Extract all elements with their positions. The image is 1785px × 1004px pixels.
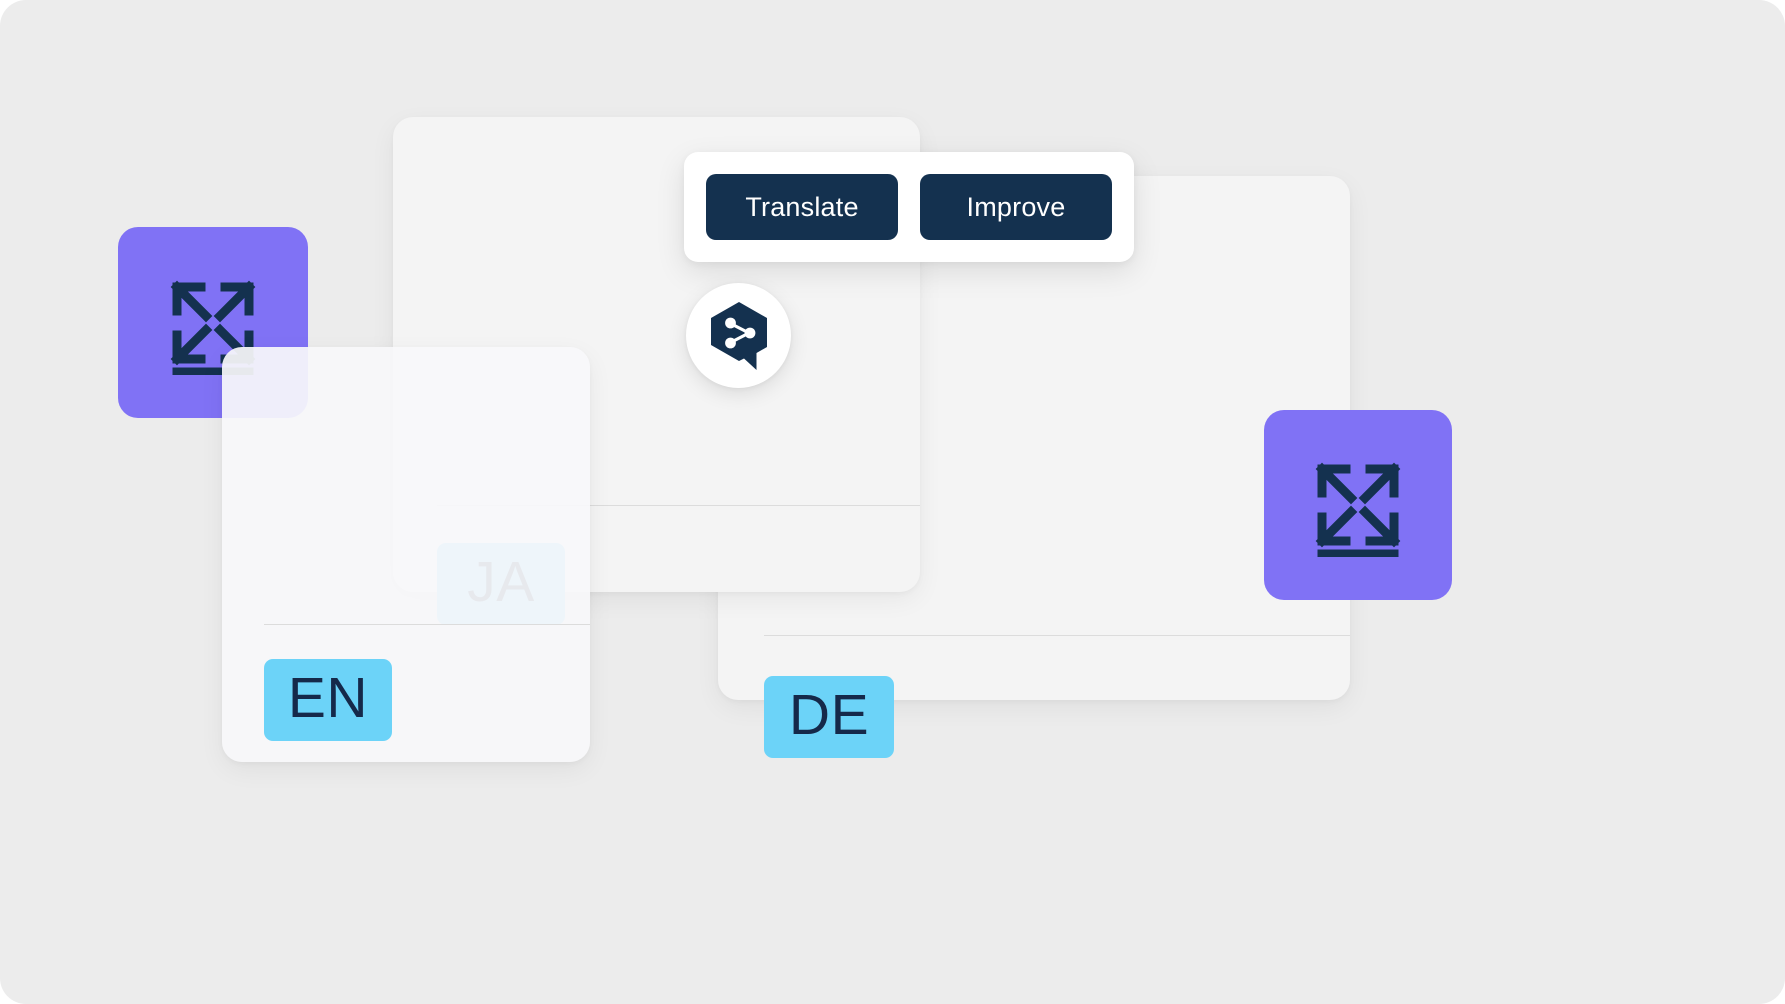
action-toolbar: Translate Improve [684,152,1134,262]
deepl-logo-button[interactable] [686,283,791,388]
card-divider [264,624,590,625]
improve-button[interactable]: Improve [920,174,1112,240]
canvas: JA DE EN Translate Improve [0,0,1785,1004]
expand-arrows-icon [1306,453,1410,557]
translate-button[interactable]: Translate [706,174,898,240]
translation-card-en[interactable]: EN [222,347,590,762]
expand-tile-right[interactable] [1264,410,1452,600]
deepl-speech-bubble-share-icon [708,302,770,370]
card-divider [764,635,1350,636]
language-badge-de[interactable]: DE [764,676,894,758]
language-badge-en[interactable]: EN [264,659,392,741]
